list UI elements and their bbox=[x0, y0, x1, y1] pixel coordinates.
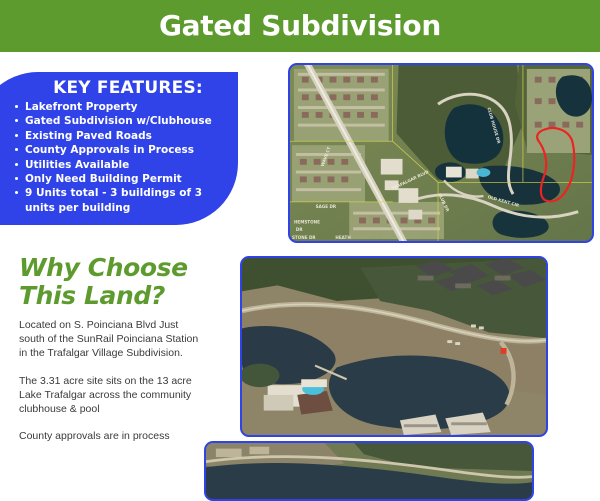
key-features-list: Lakefront Property Gated Subdivision w/C… bbox=[14, 100, 224, 215]
list-item-label: Only Need Building Permit bbox=[25, 173, 182, 185]
aerial-photo-bottom bbox=[204, 441, 534, 501]
bullet-dot-icon bbox=[15, 148, 18, 151]
list-item-label: Utilities Available bbox=[25, 159, 129, 171]
svg-text:DR: DR bbox=[296, 227, 303, 232]
list-item-label: Lakefront Property bbox=[25, 101, 137, 113]
list-item: Existing Paved Roads bbox=[14, 129, 224, 143]
list-item: Utilities Available bbox=[14, 158, 224, 172]
why-choose-body: Located on S. Poinciana Blvd Just south … bbox=[19, 318, 205, 443]
why-choose-heading-line-1: Why Choose bbox=[19, 254, 219, 282]
why-choose-heading: Why Choose This Land? bbox=[19, 254, 219, 310]
bullet-dot-icon bbox=[15, 191, 18, 194]
svg-text:HEATH: HEATH bbox=[335, 235, 351, 240]
aerial-map-top: TRAFALGAR BLVD OLD KENT CIR SAGE DR HEMS… bbox=[288, 63, 594, 243]
list-item: Gated Subdivision w/Clubhouse bbox=[14, 114, 224, 128]
bullet-dot-icon bbox=[15, 163, 18, 166]
list-item-label: Existing Paved Roads bbox=[25, 130, 152, 142]
bullet-dot-icon bbox=[15, 105, 18, 108]
bullet-dot-icon bbox=[15, 177, 18, 180]
why-choose-paragraph: Located on S. Poinciana Blvd Just south … bbox=[19, 318, 205, 361]
list-item: Lakefront Property bbox=[14, 100, 224, 114]
key-features-card: KEY FEATURES: Lakefront Property Gated S… bbox=[0, 72, 238, 225]
list-item-label: 9 Units total - 3 buildings of 3 units p… bbox=[25, 187, 202, 213]
page-title: Gated Subdivision bbox=[159, 12, 441, 40]
bullet-dot-icon bbox=[15, 134, 18, 137]
why-choose-paragraph: The 3.31 acre site sits on the 13 acre L… bbox=[19, 374, 205, 417]
aerial-photo-bottom-graphic bbox=[206, 443, 532, 499]
list-item: County Approvals in Process bbox=[14, 143, 224, 157]
list-item-label: Gated Subdivision w/Clubhouse bbox=[25, 115, 212, 127]
list-item: 9 Units total - 3 buildings of 3 units p… bbox=[14, 186, 224, 215]
svg-text:SAGE DR: SAGE DR bbox=[316, 204, 337, 209]
bullet-dot-icon bbox=[15, 119, 18, 122]
why-choose-heading-line-2: This Land? bbox=[19, 282, 219, 310]
why-choose-paragraph: County approvals are in process bbox=[19, 429, 205, 443]
aerial-photo-middle bbox=[240, 256, 548, 437]
location-marker-icon bbox=[501, 348, 507, 354]
key-features-title: KEY FEATURES: bbox=[14, 78, 224, 98]
list-item: Only Need Building Permit bbox=[14, 172, 224, 186]
svg-text:STONE DR: STONE DR bbox=[292, 235, 316, 240]
aerial-photo-middle-graphic bbox=[242, 258, 546, 435]
svg-text:HEMSTONE: HEMSTONE bbox=[294, 219, 320, 224]
list-item-label: County Approvals in Process bbox=[25, 144, 194, 156]
page-header-band: Gated Subdivision bbox=[0, 0, 600, 52]
aerial-map-top-graphic: TRAFALGAR BLVD OLD KENT CIR SAGE DR HEMS… bbox=[290, 65, 592, 241]
